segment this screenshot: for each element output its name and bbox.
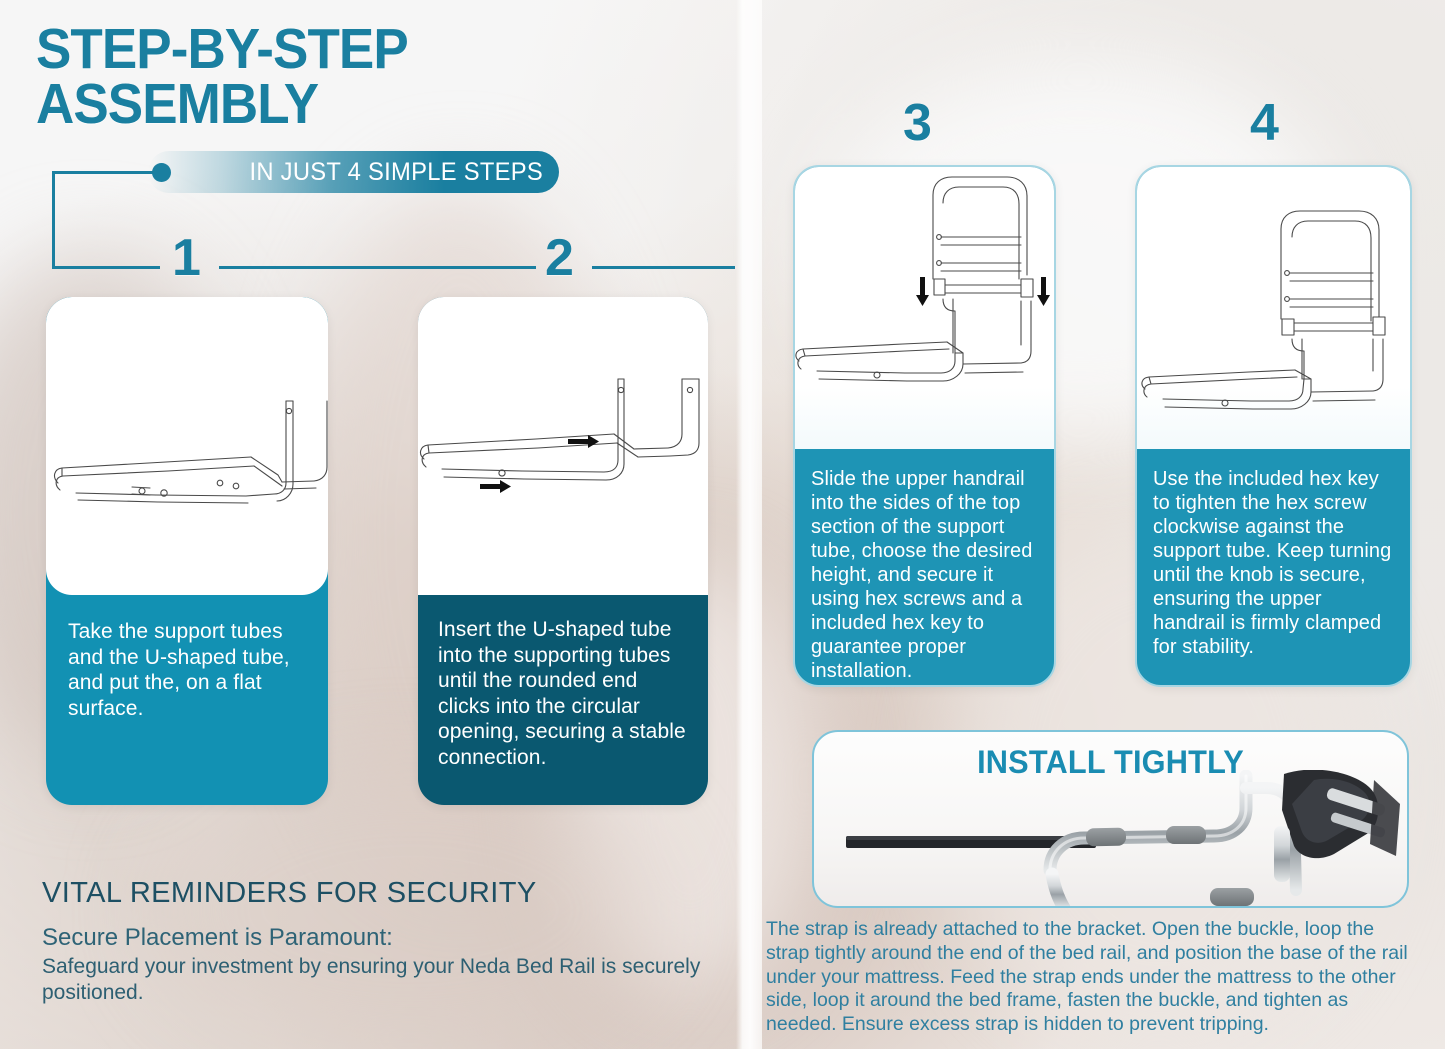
direction-arrow-icon (480, 435, 599, 493)
infographic-page: STEP-BY-STEP ASSEMBLY IN JUST 4 SIMPLE S… (0, 0, 1445, 1049)
vital-reminders-body: Safeguard your investment by ensuring yo… (42, 954, 702, 1007)
subtitle-banner: IN JUST 4 SIMPLE STEPS (148, 151, 559, 193)
install-tightly-panel: INSTALL TIGHTLY (812, 730, 1409, 908)
step-2-illustration (418, 297, 708, 595)
step-1-text: Take the support tubes and the U-shaped … (68, 619, 306, 721)
page-title-line-2: ASSEMBLY (36, 77, 650, 132)
step-number-3: 3 (903, 97, 932, 149)
step-number-4: 4 (1250, 97, 1279, 149)
step-card-4: Use the included hex key to tighten the … (1135, 165, 1412, 687)
bed-rail-strap-photo-icon (814, 770, 1407, 908)
step-number-2: 2 (545, 232, 574, 284)
page-title: STEP-BY-STEP ASSEMBLY (36, 22, 650, 131)
connector-line-bottom-left (52, 266, 160, 269)
bed-rail-insert-diagram-icon (418, 297, 708, 595)
step-number-1: 1 (172, 232, 201, 284)
connector-line-step-2-right (592, 266, 735, 269)
vital-reminders-lead: Secure Placement is Paramount: (42, 925, 702, 951)
step-4-text: Use the included hex key to tighten the … (1153, 467, 1394, 659)
step-3-illustration (795, 167, 1054, 449)
step-4-illustration (1137, 167, 1410, 449)
bed-rail-parts-diagram-icon (46, 297, 328, 595)
step-card-1: Take the support tubes and the U-shaped … (46, 297, 328, 805)
step-3-body: Slide the upper handrail into the sides … (795, 449, 1054, 683)
vital-reminders-heading: VITAL REMINDERS FOR SECURITY (42, 877, 537, 910)
step-1-body: Take the support tubes and the U-shaped … (46, 595, 328, 721)
vital-reminders-text: Secure Placement is Paramount: Safeguard… (42, 925, 702, 1007)
subtitle-banner-label: IN JUST 4 SIMPLE STEPS (249, 158, 543, 187)
connector-line-step-1-to-2 (219, 266, 536, 269)
step-1-illustration (46, 297, 328, 595)
direction-arrow-icon (916, 277, 1050, 306)
step-3-text: Slide the upper handrail into the sides … (811, 467, 1038, 683)
step-card-2: Insert the U-shaped tube into the suppor… (418, 297, 708, 805)
install-tightly-note: The strap is already attached to the bra… (766, 918, 1416, 1037)
step-4-body: Use the included hex key to tighten the … (1137, 449, 1410, 659)
panel-divider (736, 0, 762, 1049)
step-2-body: Insert the U-shaped tube into the suppor… (418, 595, 708, 771)
step-2-text: Insert the U-shaped tube into the suppor… (438, 617, 688, 771)
connector-line-vertical (52, 171, 55, 269)
step-card-3: Slide the upper handrail into the sides … (793, 165, 1056, 687)
connector-line-top (52, 171, 154, 174)
handrail-slide-diagram-icon (795, 167, 1054, 449)
handrail-tighten-diagram-icon (1137, 167, 1410, 449)
